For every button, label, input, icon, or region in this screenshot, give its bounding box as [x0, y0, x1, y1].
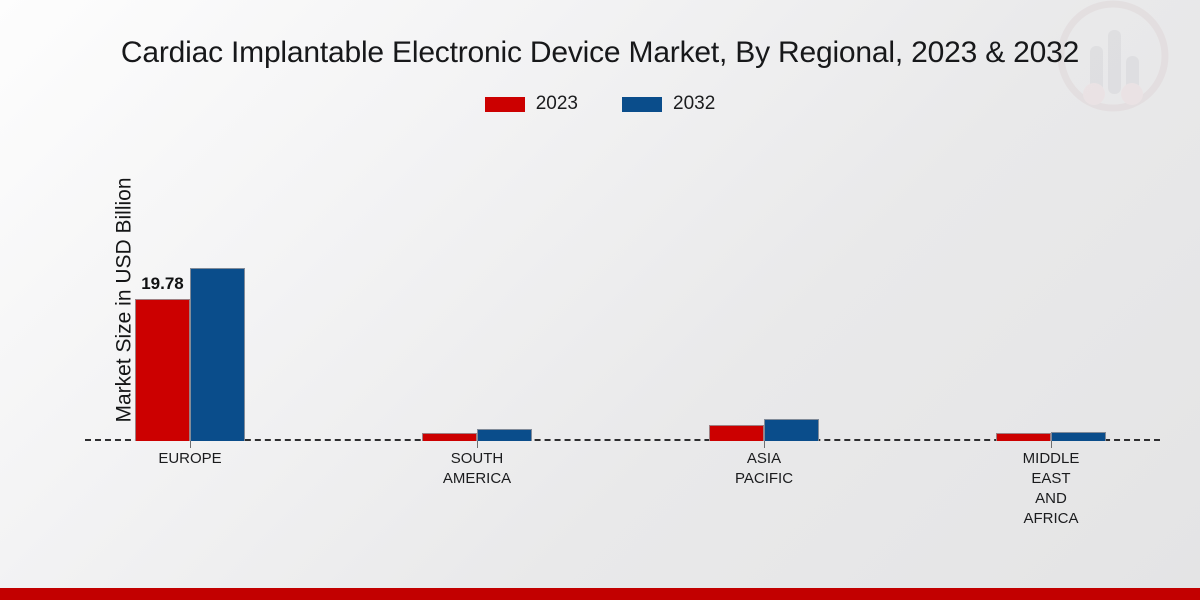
bars-middle-east-and-africa [946, 150, 1156, 441]
x-tick-asia-pacific [764, 441, 765, 448]
bars-south-america [372, 150, 582, 441]
category-label-line: PACIFIC [659, 469, 869, 489]
bar-group-asia-pacific: ASIA PACIFIC [659, 150, 869, 441]
category-label-line: AFRICA [946, 509, 1156, 529]
bar-south-america-2032[interactable] [477, 429, 532, 441]
bar-group-europe: 19.78 EUROPE [85, 150, 295, 441]
bars-europe [85, 150, 295, 441]
bar-asia-pacific-2023[interactable] [709, 425, 764, 441]
x-tick-south-america [477, 441, 478, 448]
bar-group-middle-east-and-africa: MIDDLE EAST AND AFRICA [946, 150, 1156, 441]
bar-middle-east-and-africa-2023[interactable] [996, 433, 1051, 441]
plot-area: 19.78 EUROPE SOUTH AMERICA [85, 150, 1160, 441]
chart-container: Cardiac Implantable Electronic Device Ma… [0, 0, 1200, 600]
category-label-middle-east-and-africa: MIDDLE EAST AND AFRICA [946, 449, 1156, 529]
footer-accent-bar [0, 588, 1200, 600]
legend-swatch-2032 [622, 97, 662, 112]
category-label-europe: EUROPE [85, 449, 295, 469]
category-label-line: AMERICA [372, 469, 582, 489]
chart-legend: 2023 2032 [0, 93, 1200, 115]
bar-value-europe-2023: 19.78 [135, 274, 190, 294]
bar-asia-pacific-2032[interactable] [764, 419, 819, 441]
bar-europe-2023[interactable] [135, 299, 190, 441]
category-label-line: AND [946, 489, 1156, 509]
x-tick-middle-east-and-africa [1051, 441, 1052, 448]
chart-title: Cardiac Implantable Electronic Device Ma… [0, 36, 1200, 70]
bar-europe-2032[interactable] [190, 268, 245, 441]
category-label-line: EUROPE [85, 449, 295, 469]
category-label-asia-pacific: ASIA PACIFIC [659, 449, 869, 489]
legend-item-2023[interactable]: 2023 [485, 93, 578, 115]
legend-swatch-2023 [485, 97, 525, 112]
bar-south-america-2023[interactable] [422, 433, 477, 441]
legend-label-2023: 2023 [536, 93, 578, 115]
bar-group-south-america: SOUTH AMERICA [372, 150, 582, 441]
category-label-line: EAST [946, 469, 1156, 489]
category-label-line: MIDDLE [946, 449, 1156, 469]
legend-label-2032: 2032 [673, 93, 715, 115]
x-tick-europe [190, 441, 191, 448]
category-label-line: SOUTH [372, 449, 582, 469]
category-label-south-america: SOUTH AMERICA [372, 449, 582, 489]
bars-asia-pacific [659, 150, 869, 441]
legend-item-2032[interactable]: 2032 [622, 93, 715, 115]
bar-middle-east-and-africa-2032[interactable] [1051, 432, 1106, 441]
category-label-line: ASIA [659, 449, 869, 469]
